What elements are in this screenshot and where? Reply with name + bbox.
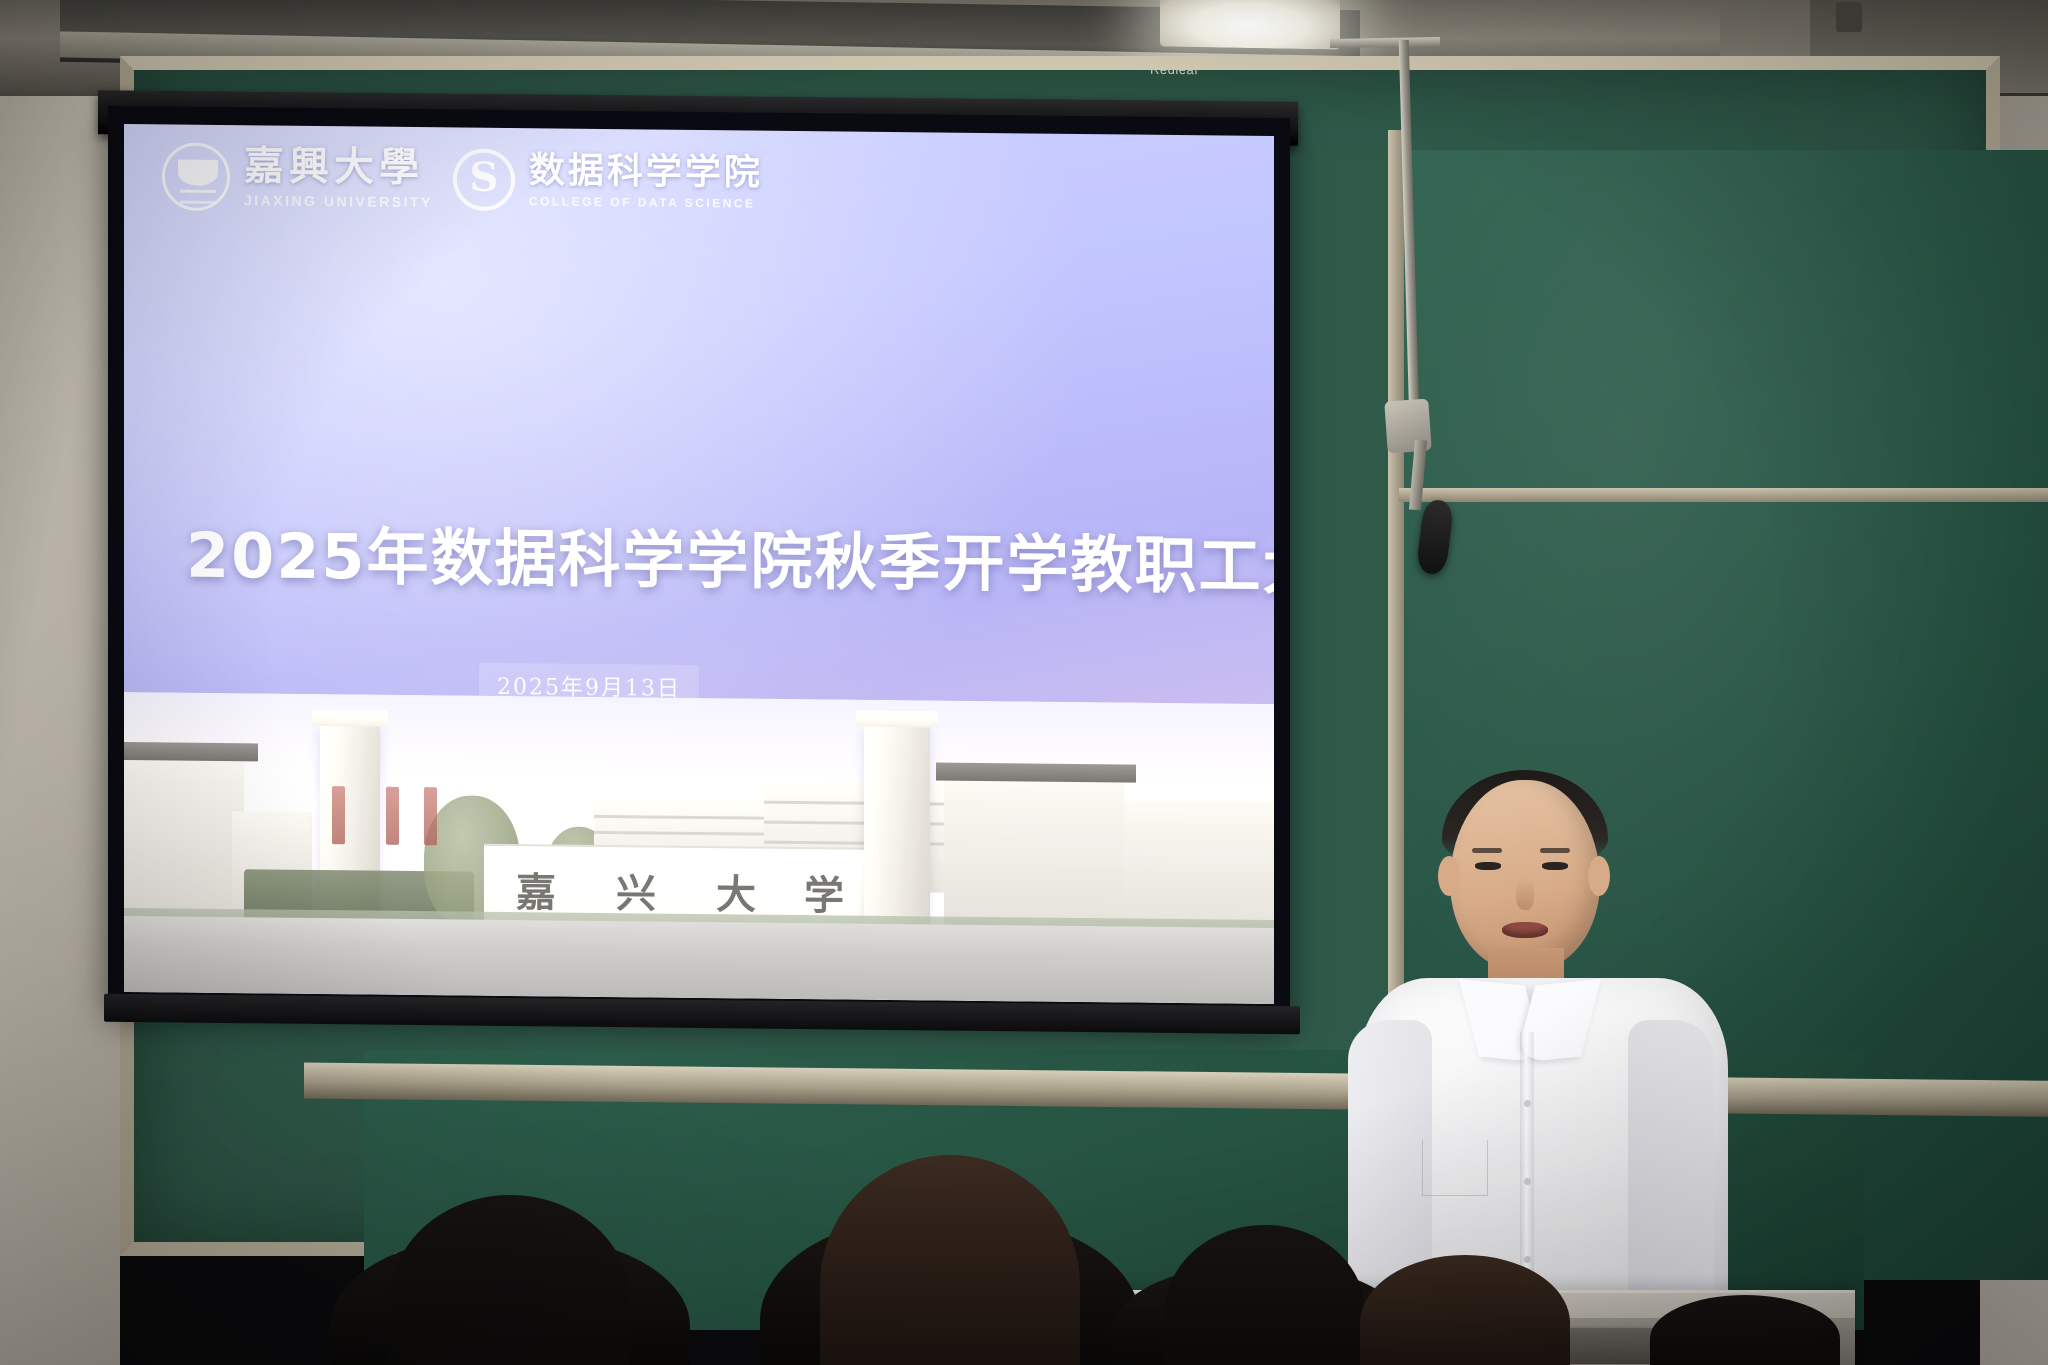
left-wall (0, 0, 120, 1365)
photo-banner-2 (386, 787, 399, 845)
sprinkler-icon (1836, 2, 1862, 32)
screen-brand-label: Redleaf (1150, 62, 1198, 78)
photo-pillar-cap-right (856, 711, 938, 728)
slide-logo-lockup: 嘉興大學 JIAXING UNIVERSITY S 数据科学学院 COLLEGE… (162, 142, 763, 216)
college-name-cn: 数据科学学院 (529, 152, 763, 190)
college-name-block: 数据科学学院 COLLEGE OF DATA SCIENCE (529, 152, 763, 210)
university-name-cn: 嘉興大學 (244, 146, 433, 188)
presenter-shirt-pocket (1422, 1140, 1488, 1196)
photo-banner-1 (332, 786, 345, 844)
presenter-shirt-button (1524, 1100, 1531, 1107)
photo-plaza (124, 916, 1274, 1004)
university-name-block: 嘉興大學 JIAXING UNIVERSITY (244, 146, 433, 210)
college-name-en: COLLEGE OF DATA SCIENCE (529, 194, 763, 210)
classroom-photo: Redleaf 嘉興大學 JIAXING UNIVERSITY S 数据科学学院… (0, 0, 2048, 1365)
photo-building-left (124, 750, 244, 931)
photo-banner-3 (424, 787, 437, 845)
college-mark-icon: S (453, 148, 515, 211)
presenter-mouth (1502, 922, 1548, 938)
presenter-head (1450, 780, 1600, 970)
photo-roof-left (124, 742, 258, 761)
university-name-en: JIAXING UNIVERSITY (244, 192, 433, 210)
presenter-nose (1516, 878, 1534, 910)
photo-gate-char-2: 兴 (616, 861, 656, 919)
college-mark-letter: S (469, 158, 498, 198)
microphone-boom-arm (1330, 37, 1440, 48)
photo-gate-char-1: 嘉 (516, 860, 556, 918)
presenter-shirt-button (1524, 1256, 1531, 1263)
photo-gate-char-3: 大 (716, 862, 756, 920)
photo-gate-char-4: 学 (804, 863, 844, 921)
slide-title: 2025年数据科学学院秋季开学教职工大会 (186, 505, 1226, 606)
chalkboard-divider-horizontal (1399, 488, 2048, 502)
ceiling-light-icon (1160, 0, 1340, 50)
presenter-brow-right (1540, 848, 1570, 853)
projection-screen: 嘉興大學 JIAXING UNIVERSITY S 数据科学学院 COLLEGE… (108, 106, 1290, 1018)
presenter-eye-right (1542, 862, 1568, 870)
presenter-eye-left (1475, 862, 1501, 870)
presenter-ear-left (1438, 856, 1460, 896)
photo-pillar-cap-left (312, 710, 388, 727)
presenter-ear-right (1588, 856, 1610, 896)
photo-gate-pillar-right (864, 723, 930, 939)
presenter-shirt-button (1524, 1178, 1531, 1185)
photo-roof-right (936, 762, 1136, 782)
presentation-slide: 嘉興大學 JIAXING UNIVERSITY S 数据科学学院 COLLEGE… (124, 124, 1274, 1004)
campus-gate-photo: 嘉 兴 大 学 (124, 692, 1274, 1004)
presenter-brow-left (1472, 848, 1502, 853)
photo-building-right (944, 774, 1124, 941)
university-crest-icon (162, 142, 230, 211)
